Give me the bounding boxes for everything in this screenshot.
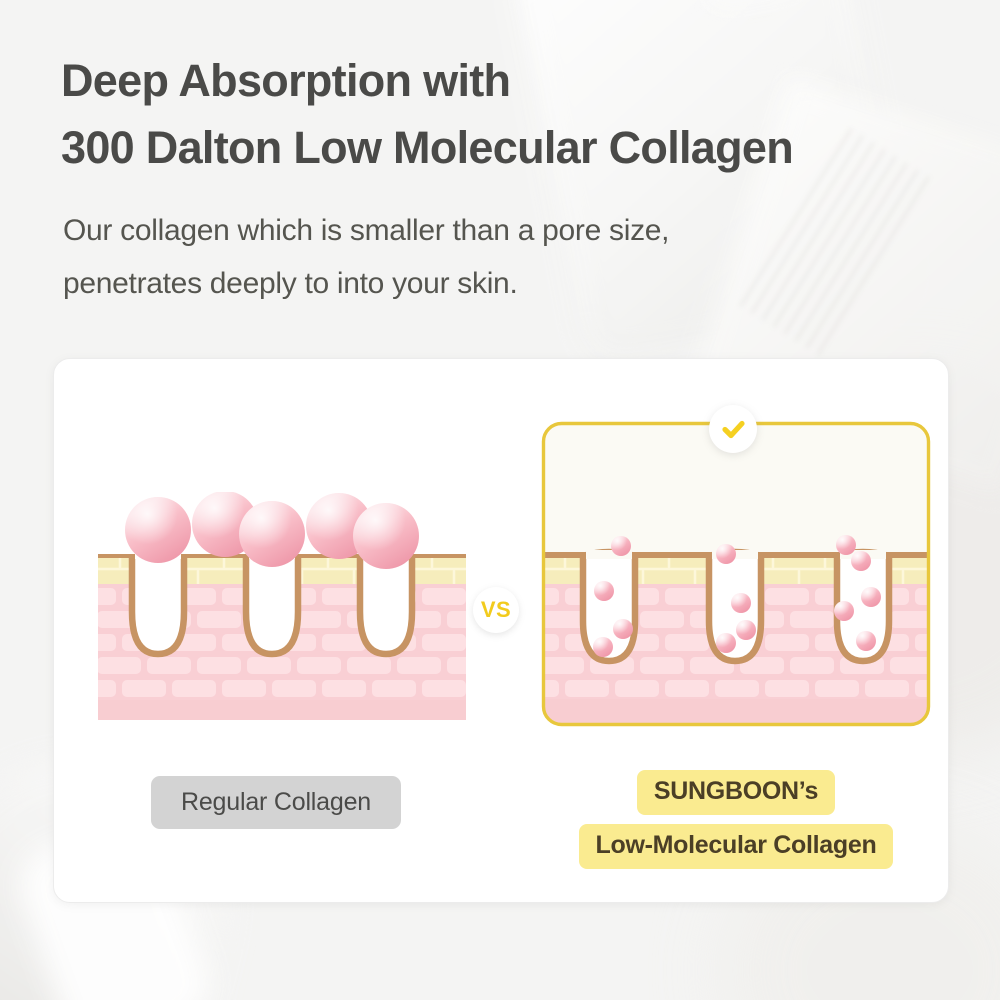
sungboon-label-group: SUNGBOON’s Low-Molecular Collagen — [541, 770, 931, 869]
page-subtitle: Our collagen which is smaller than a por… — [63, 204, 823, 311]
regular-collagen-label: Regular Collagen — [151, 776, 401, 829]
vs-badge: VS — [473, 587, 519, 633]
regular-collagen-skin-diagram — [98, 492, 466, 720]
large-collagen-molecules — [125, 492, 419, 569]
page-title: Deep Absorption with 300 Dalton Low Mole… — [61, 48, 961, 181]
pores-left — [132, 552, 412, 654]
regular-collagen-panel — [98, 492, 466, 720]
skin-layers-left — [98, 550, 466, 720]
low-molecular-collagen-panel — [541, 421, 931, 727]
sungboon-brand-label: SUNGBOON’s — [637, 770, 835, 815]
check-icon — [709, 405, 757, 453]
comparison-card: VS — [53, 358, 949, 903]
low-molecular-collagen-label: Low-Molecular Collagen — [579, 824, 894, 869]
infographic-page: Deep Absorption with 300 Dalton Low Mole… — [0, 0, 1000, 1000]
low-molecular-collagen-skin-diagram — [541, 421, 931, 727]
